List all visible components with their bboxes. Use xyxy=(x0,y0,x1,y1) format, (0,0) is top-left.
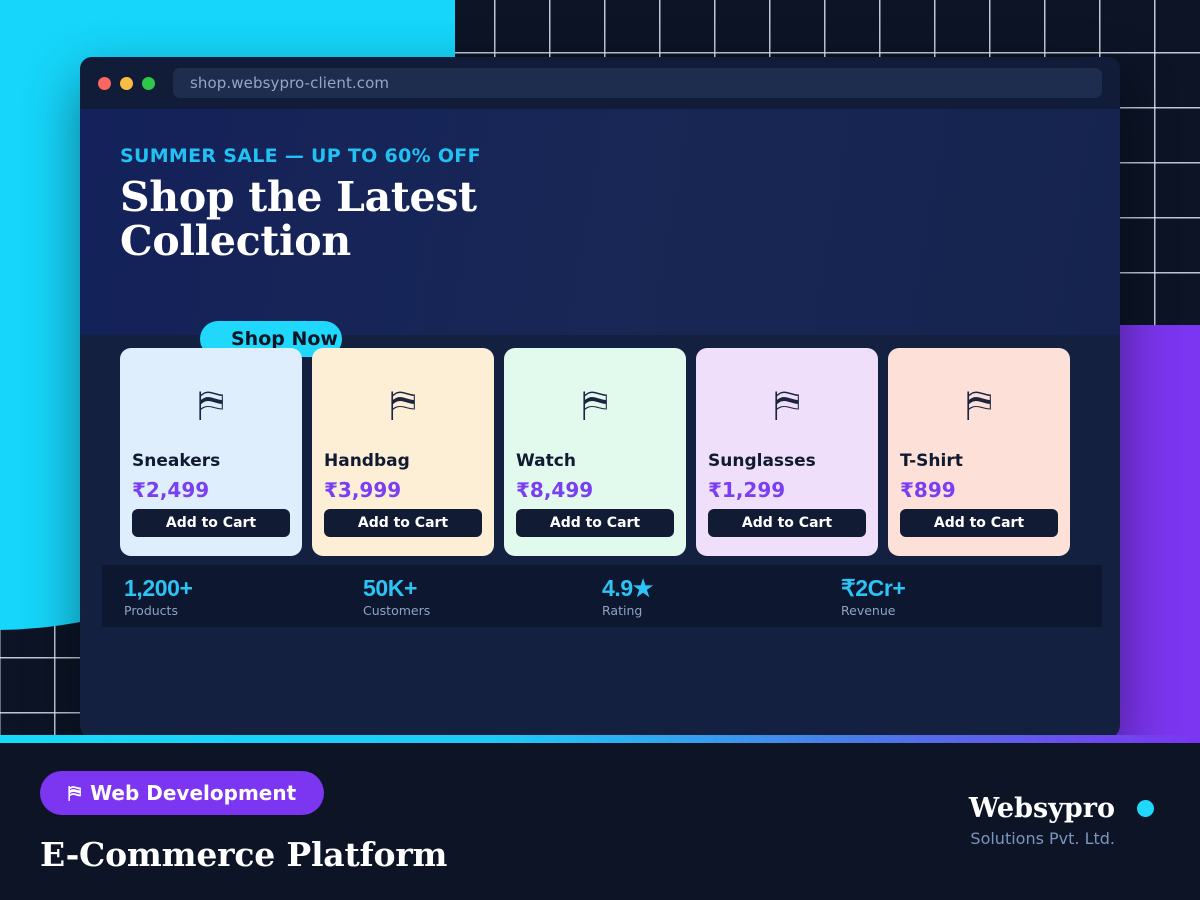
add-to-cart-button[interactable]: Add to Cart xyxy=(708,509,866,537)
stat-item: ₹2Cr+Revenue xyxy=(841,575,1080,618)
stat-value: 50K+ xyxy=(363,575,602,602)
stat-item: 4.9★Rating xyxy=(602,575,841,618)
hero-headline-line-1: Shop the Latest xyxy=(120,176,1120,220)
watch-icon: ⛿ xyxy=(516,387,674,423)
stats-bar: 1,200+Products50K+Customers4.9★Rating₹2C… xyxy=(102,565,1102,627)
product-price: ₹2,499 xyxy=(132,478,209,502)
product-card-list: ⛿Sneakers₹2,499Add to Cart⛿Handbag₹3,999… xyxy=(120,348,1070,556)
traffic-light-dots xyxy=(98,77,155,90)
stat-value: ₹2Cr+ xyxy=(841,575,1080,602)
shop-now-button-label: Shop Now xyxy=(231,328,338,350)
product-price: ₹899 xyxy=(900,478,956,502)
product-price: ₹3,999 xyxy=(324,478,401,502)
product-name: Watch xyxy=(516,451,576,471)
stat-value: 1,200+ xyxy=(124,575,363,602)
hero-headline-line-2: Collection xyxy=(120,220,1120,264)
product-name: Sunglasses xyxy=(708,451,816,471)
browser-chrome-bar: shop.websypro-client.com xyxy=(80,57,1120,109)
stat-label: Revenue xyxy=(841,603,1080,618)
category-badge-label: Web Development xyxy=(90,781,296,805)
tshirt-icon: ⛿ xyxy=(900,387,1058,423)
add-to-cart-button[interactable]: Add to Cart xyxy=(900,509,1058,537)
category-badge[interactable]: ⛿ Web Development xyxy=(40,771,324,815)
brand-block: Websypro Solutions Pvt. Ltd. xyxy=(969,793,1154,848)
brand-name-row: Websypro xyxy=(969,793,1154,824)
stat-item: 1,200+Products xyxy=(124,575,363,618)
stat-label: Customers xyxy=(363,603,602,618)
stat-item: 50K+Customers xyxy=(363,575,602,618)
address-bar-url-text: shop.websypro-client.com xyxy=(190,74,389,92)
product-card[interactable]: ⛿Handbag₹3,999Add to Cart xyxy=(312,348,494,556)
gradient-divider-bar xyxy=(0,735,1200,743)
browser-window-mockup: shop.websypro-client.com SUMMER SALE — U… xyxy=(80,57,1120,739)
address-bar-input[interactable]: shop.websypro-client.com xyxy=(173,68,1102,98)
stat-value: 4.9★ xyxy=(602,575,841,602)
brand-dot-icon xyxy=(1137,800,1154,817)
brand-name: Websypro xyxy=(969,793,1115,824)
product-card[interactable]: ⛿T-Shirt₹899Add to Cart xyxy=(888,348,1070,556)
footer-section: ⛿ Web Development E-Commerce Platform We… xyxy=(0,743,1200,900)
handbag-icon: ⛿ xyxy=(324,387,482,423)
stat-label: Rating xyxy=(602,603,841,618)
product-price: ₹8,499 xyxy=(516,478,593,502)
product-card[interactable]: ⛿Watch₹8,499Add to Cart xyxy=(504,348,686,556)
product-name: Handbag xyxy=(324,451,410,471)
product-card[interactable]: ⛿Sunglasses₹1,299Add to Cart xyxy=(696,348,878,556)
product-price: ₹1,299 xyxy=(708,478,785,502)
product-name: T-Shirt xyxy=(900,451,963,471)
code-icon: ⛿ xyxy=(68,783,81,804)
minimize-window-dot[interactable] xyxy=(120,77,133,90)
project-title: E-Commerce Platform xyxy=(40,835,447,874)
stat-label: Products xyxy=(124,603,363,618)
hero-headline: Shop the Latest Collection xyxy=(120,176,1120,264)
close-window-dot[interactable] xyxy=(98,77,111,90)
product-name: Sneakers xyxy=(132,451,220,471)
product-card[interactable]: ⛿Sneakers₹2,499Add to Cart xyxy=(120,348,302,556)
add-to-cart-button[interactable]: Add to Cart xyxy=(324,509,482,537)
add-to-cart-button[interactable]: Add to Cart xyxy=(132,509,290,537)
hero-eyebrow-text: SUMMER SALE — UP TO 60% OFF xyxy=(120,145,1120,167)
maximize-window-dot[interactable] xyxy=(142,77,155,90)
hero-banner: SUMMER SALE — UP TO 60% OFF Shop the Lat… xyxy=(80,109,1120,335)
sneaker-icon: ⛿ xyxy=(132,387,290,423)
brand-subtitle: Solutions Pvt. Ltd. xyxy=(969,829,1115,848)
add-to-cart-button[interactable]: Add to Cart xyxy=(516,509,674,537)
sunglasses-icon: ⛿ xyxy=(708,387,866,423)
